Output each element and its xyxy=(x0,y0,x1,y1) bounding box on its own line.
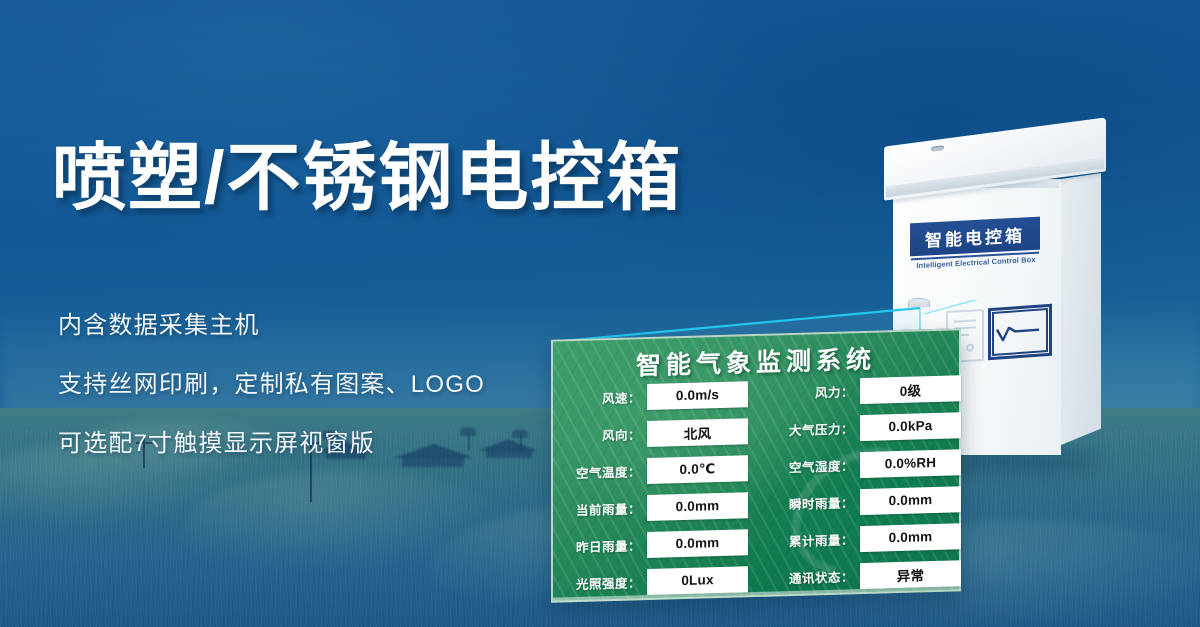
nameplate: 智能电控箱 xyxy=(910,217,1040,257)
reading-row: 风向： 北风 大气压力： 0.0kPa xyxy=(551,409,961,451)
reading-label: 风速： xyxy=(551,387,647,409)
reading-cell-wind-direction: 风向： 北风 xyxy=(551,418,756,450)
reading-row: 当前雨量： 0.0mm 瞬时雨量： 0.0mm xyxy=(551,483,961,525)
reading-label: 风向： xyxy=(551,424,647,446)
reading-value: 0.0℃ xyxy=(647,455,748,484)
feature-item-3: 可选配7寸触摸显示屏视窗版 xyxy=(58,423,485,458)
reading-cell-air-humidity: 空气湿度： 0.0%RH xyxy=(756,449,961,481)
feature-list: 内含数据采集主机 支持丝网印刷，定制私有图案、LOGO 可选配7寸触摸显示屏视窗… xyxy=(58,305,485,482)
reading-value: 0.0m/s xyxy=(647,381,748,410)
reading-value: 0.0mm xyxy=(860,523,961,552)
reading-label: 通讯状态： xyxy=(756,566,860,588)
nameplate-label: 智能电控箱 xyxy=(925,221,1025,251)
reading-label: 累计雨量： xyxy=(756,529,860,551)
reading-cell-wind-speed: 风速： 0.0m/s xyxy=(551,381,756,413)
reading-label: 瞬时雨量： xyxy=(756,492,860,514)
reading-value: 0.0kPa xyxy=(860,412,961,441)
weather-display-panel: 智能气象监测系统 风速： 0.0m/s 风力： 0级 风向： 北风 大气压力 xyxy=(551,328,961,602)
reading-row: 空气温度： 0.0℃ 空气湿度： 0.0%RH xyxy=(551,446,961,488)
reading-cell-air-temperature: 空气温度： 0.0℃ xyxy=(551,455,756,487)
reading-row: 昨日雨量： 0.0mm 累计雨量： 0.0mm xyxy=(551,520,961,562)
reading-cell-current-rainfall: 当前雨量： 0.0mm xyxy=(551,492,756,524)
page-title: 喷塑/不锈钢电控箱 xyxy=(52,141,683,215)
reading-label: 昨日雨量： xyxy=(551,535,647,557)
reading-label: 大气压力： xyxy=(756,418,860,440)
weather-readings-grid: 风速： 0.0m/s 风力： 0级 风向： 北风 大气压力： 0.0kPa xyxy=(551,372,961,605)
reading-value: 0级 xyxy=(860,375,961,404)
reading-value: 0.0mm xyxy=(647,529,748,558)
reading-label: 空气湿度： xyxy=(756,455,860,477)
reading-label: 当前雨量： xyxy=(551,498,647,520)
reading-cell-yesterday-rainfall: 昨日雨量： 0.0mm xyxy=(551,529,756,561)
reading-cell-instant-rainfall: 瞬时雨量： 0.0mm xyxy=(756,486,961,518)
status-badge: 异常 xyxy=(860,560,961,589)
reading-label: 风力： xyxy=(756,381,860,403)
feature-item-1: 内含数据采集主机 xyxy=(58,305,485,340)
reading-value: 0.0mm xyxy=(860,486,961,515)
latch-icon xyxy=(908,298,930,307)
reading-label: 光照强度： xyxy=(551,572,647,594)
banner-stage: 喷塑/不锈钢电控箱 内含数据采集主机 支持丝网印刷，定制私有图案、LOGO 可选… xyxy=(0,0,1200,627)
feature-item-2: 支持丝网印刷，定制私有图案、LOGO xyxy=(58,364,485,399)
reading-value: 0.0mm xyxy=(647,492,748,521)
monitor-waveform-icon xyxy=(988,304,1052,360)
reading-label: 空气温度： xyxy=(551,461,647,483)
reading-value: 0Lux xyxy=(647,566,748,595)
reading-value: 0.0%RH xyxy=(860,449,961,478)
reading-cell-air-pressure: 大气压力： 0.0kPa xyxy=(756,412,961,444)
reading-value: 北风 xyxy=(647,418,748,447)
control-box-side-panel xyxy=(1061,173,1101,445)
reading-cell-wind-force: 风力： 0级 xyxy=(756,375,961,407)
reading-cell-cumulative-rainfall: 累计雨量： 0.0mm xyxy=(756,523,961,555)
